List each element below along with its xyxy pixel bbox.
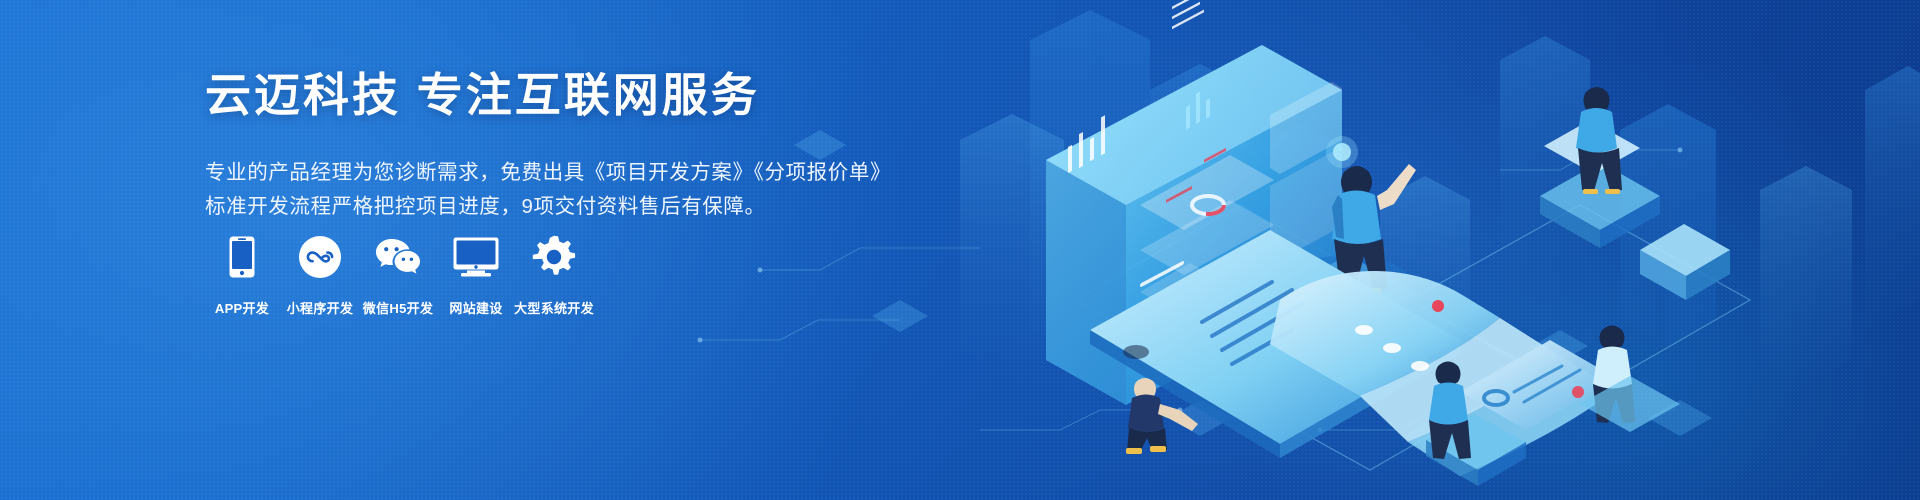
mobile-phone-icon bbox=[229, 232, 255, 282]
background-glow-accent bbox=[1250, 60, 1920, 500]
hero-subtitle: 专业的产品经理为您诊断需求，免费出具《项目开发方案》《分项报价单》 标准开发流程… bbox=[205, 156, 965, 224]
service-label-wechat: 微信H5开发 bbox=[363, 298, 433, 317]
service-label-app: APP开发 bbox=[215, 298, 269, 317]
hero-banner: 云迈科技 专注互联网服务 专业的产品经理为您诊断需求，免费出具《项目开发方案》《… bbox=[0, 0, 1920, 500]
service-item-website[interactable]: 网站建设 bbox=[439, 232, 513, 317]
service-icon-row: APP开发 小程序开发 bbox=[205, 232, 591, 317]
mini-program-icon bbox=[299, 232, 341, 282]
hero-text-block: 云迈科技 专注互联网服务 专业的产品经理为您诊断需求，免费出具《项目开发方案》《… bbox=[205, 68, 965, 224]
hero-illustration bbox=[940, 0, 1920, 500]
page-title: 云迈科技 专注互联网服务 bbox=[205, 68, 965, 122]
service-item-miniprogram[interactable]: 小程序开发 bbox=[283, 232, 357, 317]
service-label-system: 大型系统开发 bbox=[514, 298, 594, 317]
wechat-icon bbox=[374, 232, 422, 282]
gear-icon bbox=[532, 232, 576, 282]
service-item-wechat[interactable]: 微信H5开发 bbox=[361, 232, 435, 317]
service-label-miniprogram: 小程序开发 bbox=[287, 298, 354, 317]
service-item-system[interactable]: 大型系统开发 bbox=[517, 232, 591, 317]
subtitle-line-1: 专业的产品经理为您诊断需求，免费出具《项目开发方案》《分项报价单》 bbox=[205, 156, 965, 190]
service-item-app[interactable]: APP开发 bbox=[205, 232, 279, 317]
background-glow-right bbox=[820, 0, 1820, 500]
service-label-website: 网站建设 bbox=[449, 298, 502, 317]
subtitle-line-2: 标准开发流程严格把控项目进度，9项交付资料售后有保障。 bbox=[205, 190, 965, 224]
monitor-icon bbox=[453, 232, 499, 282]
